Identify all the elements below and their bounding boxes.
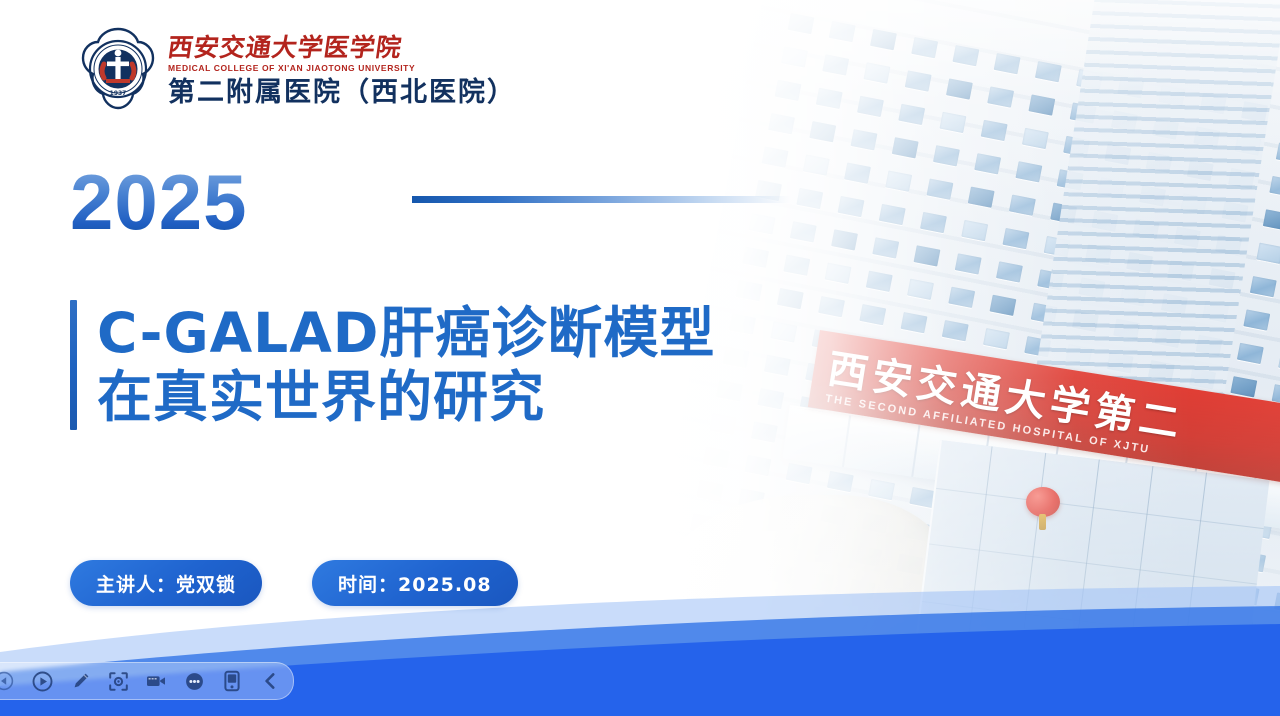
pencil-icon[interactable] — [69, 670, 91, 692]
presentation-toolbar[interactable] — [0, 662, 294, 700]
presentation-slide: 大医精诚 西安交通大学第二 THE SECOND AFFILIATED HOSP… — [0, 0, 1280, 716]
video-camera-icon[interactable] — [145, 670, 167, 692]
logo-hospital-cn: 第二附属医院（西北医院） — [168, 78, 516, 108]
title-divider-rule — [412, 196, 790, 203]
hospital-logo: 1937 西安交通大学医学院 MEDICAL COLLEGE OF XI'AN … — [78, 26, 516, 112]
hospital-emblem-icon: 1937 — [78, 26, 158, 112]
meta-pills: 主讲人：党双锁 时间：2025.08 — [70, 560, 518, 606]
more-options-icon[interactable] — [183, 670, 205, 692]
title-line-1: C-GALAD肝癌诊断模型 — [97, 302, 715, 366]
collapse-chevron-icon[interactable] — [259, 670, 281, 692]
laser-focus-icon[interactable] — [107, 670, 129, 692]
emblem-year-text: 1937 — [110, 90, 127, 97]
date-pill[interactable]: 时间：2025.08 — [312, 560, 518, 606]
title-block: C-GALAD肝癌诊断模型 在真实世界的研究 — [70, 300, 715, 430]
photo-bottom-haze — [640, 0, 1280, 686]
title-line-2: 在真实世界的研究 — [97, 366, 715, 430]
speaker-pill[interactable]: 主讲人：党双锁 — [70, 560, 262, 606]
hospital-photo: 大医精诚 西安交通大学第二 THE SECOND AFFILIATED HOSP… — [640, 0, 1280, 686]
play-icon[interactable] — [31, 670, 53, 692]
phone-remote-icon[interactable] — [221, 670, 243, 692]
title-accent-bar — [70, 300, 77, 430]
previous-slide-icon[interactable] — [0, 670, 15, 692]
logo-university-cn: 西安交通大学医学院 — [166, 35, 518, 60]
year-heading: 2025 — [70, 163, 248, 241]
logo-university-en: MEDICAL COLLEGE OF XI'AN JIAOTONG UNIVER… — [168, 63, 516, 73]
